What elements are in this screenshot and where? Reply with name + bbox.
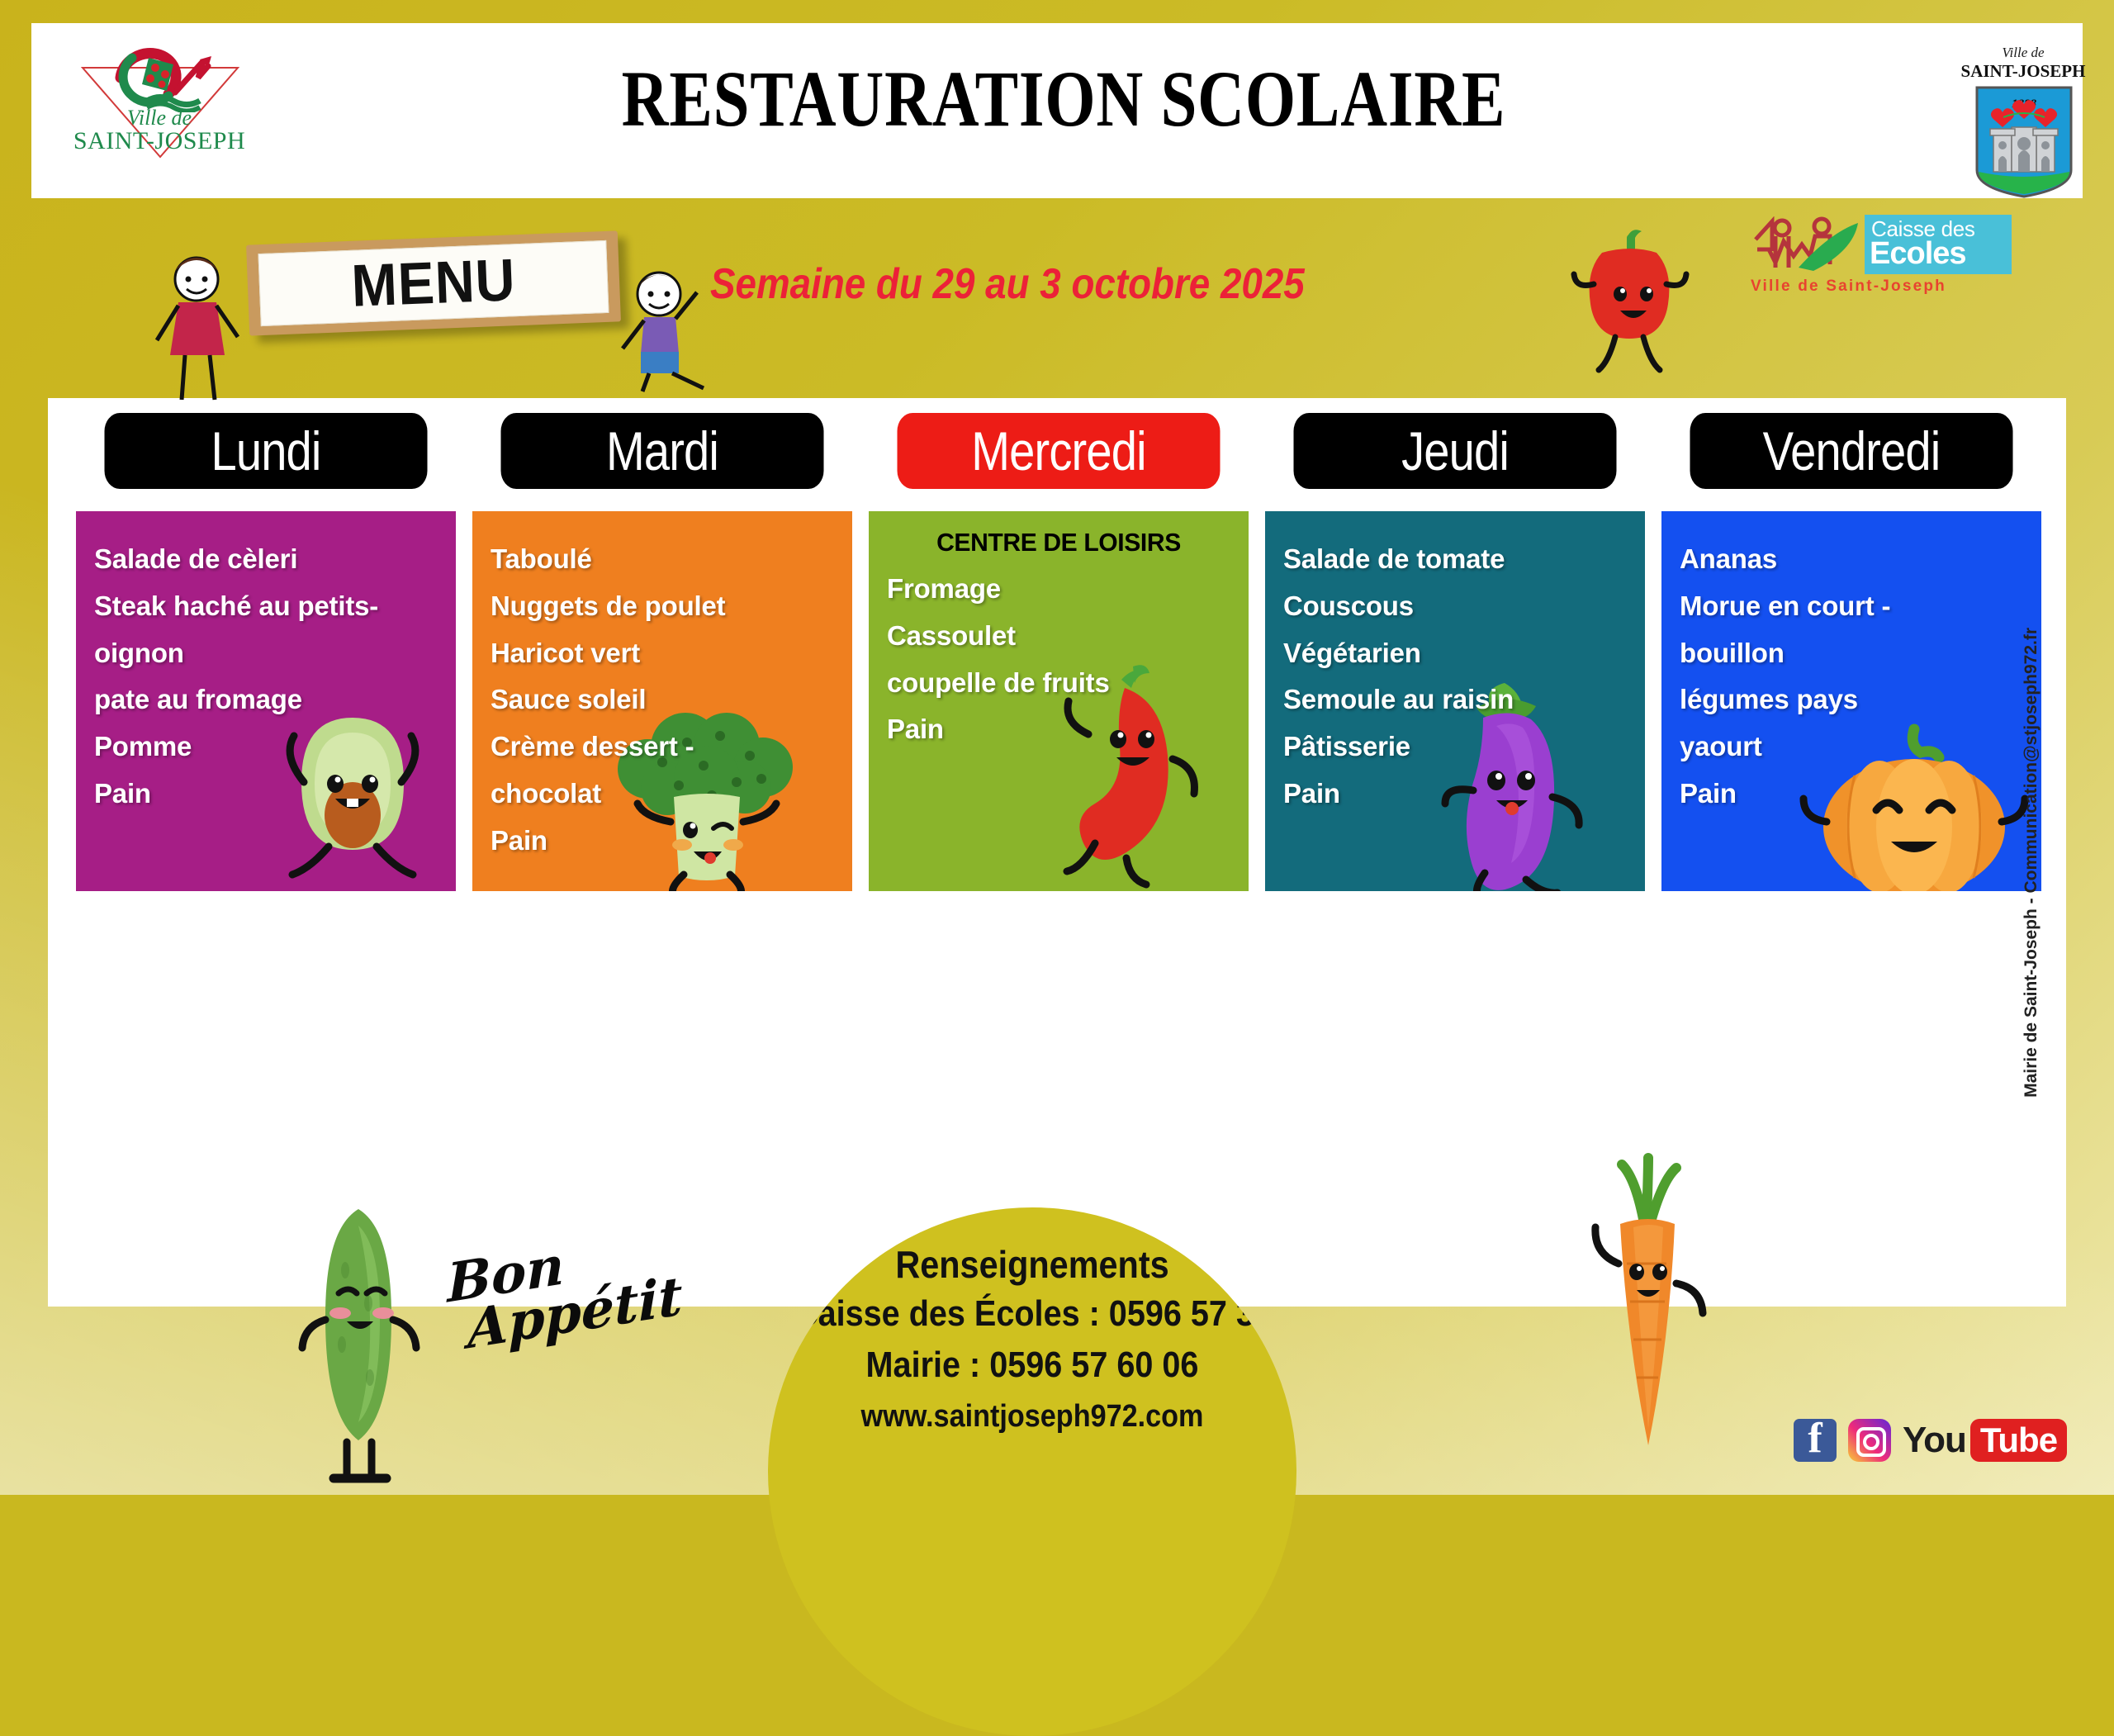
crest-shield-icon: 1888 [1974,84,2074,200]
dish-item: Haricot vert [491,630,834,677]
dish-item: Taboulé [491,536,834,583]
bell-pepper-mascot-icon [1569,225,1693,390]
city-logo-line2: SAINT-JOSEPH [64,127,254,155]
cucumber-mascot-icon [287,1196,436,1493]
dish-item: Morue en court - [1680,583,2023,630]
instagram-icon[interactable] [1848,1419,1891,1462]
day-column-lundi: Lundi Salade de cèleri Steak haché au pe… [76,413,456,1305]
dish-item: Pain [1680,771,2023,818]
page-title: RESTAURATION SCOLAIRE [596,53,1531,145]
dish-item: Végétarien [1283,630,1627,677]
day-header-jeudi[interactable]: Jeudi [1294,413,1617,489]
dish-item: Fromage [887,566,1230,613]
day-column-mercredi: Mercredi CENTRE DE LOISIRS Fromage Casso… [869,413,1249,1305]
social-links: You Tube [1794,1419,2067,1462]
dish-item: Salade de cèleri [94,536,438,583]
day-header-mercredi[interactable]: Mercredi [898,413,1221,489]
menu-sign: MENU [246,230,621,335]
header-band: Ville de SAINT-JOSEPH RESTAURATION SCOLA… [31,23,2083,198]
info-title: Renseignements [794,1242,1270,1287]
dish-item: Pain [1283,771,1627,818]
dish-item: Pain [94,771,438,818]
youtube-icon[interactable]: You Tube [1903,1419,2067,1462]
day-card-mardi: Taboulé Nuggets de poulet Haricot vert S… [472,511,852,891]
day-card-mercredi: CENTRE DE LOISIRS Fromage Cassoulet coup… [869,511,1249,891]
dish-item: bouillon [1680,630,2023,677]
week-grid: Lundi Salade de cèleri Steak haché au pe… [76,413,2058,1305]
info-website[interactable]: www.saintjoseph972.com [794,1399,1270,1435]
dish-item: Pomme [94,723,438,771]
dish-item: Steak haché au petits- [94,583,438,630]
menu-sign-label: MENU [261,231,606,335]
crest-line2: SAINT-JOSEPH [1949,61,2097,82]
crest-line1: Ville de [1949,45,2097,61]
info-caisse-phone: Caisse des Écoles : 0596 57 30 00 [794,1293,1270,1335]
dish-item: Crème dessert - [491,723,834,771]
dish-item: légumes pays [1680,676,2023,723]
dish-item: Pain [491,818,834,865]
dish-item: Ananas [1680,536,2023,583]
dish-item: pate au fromage [94,676,438,723]
logo-emblem-icon [102,41,218,112]
coat-of-arms: Ville de SAINT-JOSEPH 1888 [1949,45,2097,202]
youtube-you-text: You [1903,1420,1966,1461]
day-card-vendredi: Ananas Morue en court - bouillon légumes… [1661,511,2041,891]
day-card-jeudi: Salade de tomate Couscous Végétarien Sem… [1265,511,1645,891]
day-column-mardi: Mardi [472,413,852,1305]
dish-item: Sauce soleil [491,676,834,723]
dish-item: Pain [887,706,1230,753]
day-subtitle-mercredi: CENTRE DE LOISIRS [892,528,1225,557]
info-mairie-phone: Mairie : 0596 57 60 06 [794,1345,1270,1386]
dish-item: coupelle de fruits [887,660,1230,707]
city-logo: Ville de SAINT-JOSEPH [64,41,254,165]
dish-item: Salade de tomate [1283,536,1627,583]
dish-item: Pâtisserie [1283,723,1627,771]
dish-item: Semoule au raisin [1283,676,1627,723]
week-label: Semaine du 29 au 3 octobre 2025 [710,259,1305,309]
day-header-mardi[interactable]: Mardi [501,413,824,489]
boy-doodle-icon [618,263,725,395]
caisse-line2: Ecoles [1870,238,2014,269]
facebook-icon[interactable] [1794,1419,1837,1462]
caisse-line3: Ville de Saint-Joseph [1751,277,2015,296]
day-card-lundi: Salade de cèleri Steak haché au petits- … [76,511,456,891]
info-circle: Renseignements Caisse des Écoles : 0596 … [768,1207,1296,1736]
day-header-vendredi[interactable]: Vendredi [1690,413,2013,489]
caisse-figures-icon [1751,216,1866,274]
day-header-lundi[interactable]: Lundi [105,413,428,489]
carrot-mascot-icon [1569,1148,1726,1462]
dish-item: chocolat [491,771,834,818]
dish-item: oignon [94,630,438,677]
credit-text: Mairie de Saint-Joseph - Communication@s… [2022,628,2041,1098]
youtube-tube-text: Tube [1970,1419,2067,1462]
dish-item: Couscous [1283,583,1627,630]
dish-item: Nuggets de poulet [491,583,834,630]
caisse-des-ecoles-logo: Caisse des Ecoles Ville de Saint-Joseph [1751,213,2015,300]
dish-item: Cassoulet [887,613,1230,660]
girl-doodle-icon [149,248,248,405]
dish-item: yaourt [1680,723,2023,771]
instagram-lens [1863,1434,1879,1450]
